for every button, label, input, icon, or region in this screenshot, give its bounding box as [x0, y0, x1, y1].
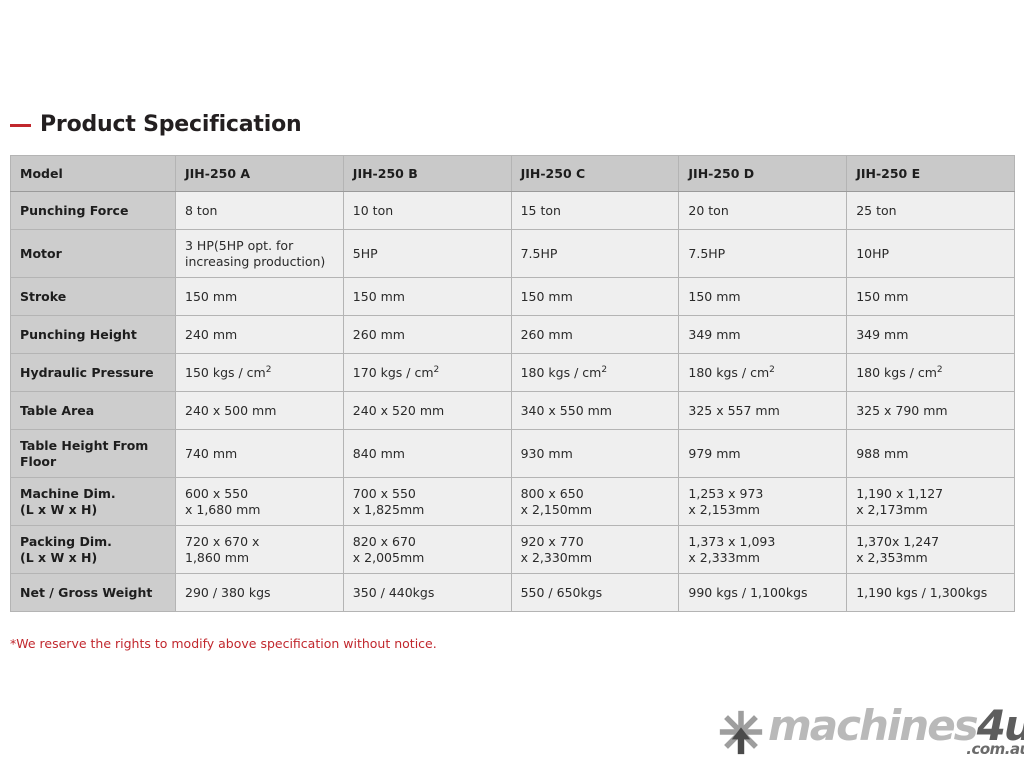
table-header-row: ModelJIH-250 AJIH-250 BJIH-250 CJIH-250 … [11, 156, 1015, 192]
table-cell-value: 1,253 x 973 x 2,153mm [679, 478, 847, 526]
table-cell-value: 150 kgs / cm2 [176, 354, 344, 392]
table-header-cell-model-jih-250-c: JIH-250 C [511, 156, 679, 192]
table-cell-value: 930 mm [511, 430, 679, 478]
table-cell-value: 340 x 550 mm [511, 392, 679, 430]
table-header-cell-model-jih-250-b: JIH-250 B [343, 156, 511, 192]
table-row: Punching Height240 mm260 mm260 mm349 mm3… [11, 316, 1015, 354]
table-cell-value: 240 x 500 mm [176, 392, 344, 430]
table-cell-value: 700 x 550 x 1,825mm [343, 478, 511, 526]
table-cell-value: 800 x 650 x 2,150mm [511, 478, 679, 526]
table-row: Net / Gross Weight290 / 380 kgs350 / 440… [11, 574, 1015, 612]
table-cell-value: 7.5HP [511, 230, 679, 278]
table-cell-value: 720 x 670 x 1,860 mm [176, 526, 344, 574]
table-row: Hydraulic Pressure150 kgs / cm2170 kgs /… [11, 354, 1015, 392]
table-cell-value: 325 x 790 mm [847, 392, 1015, 430]
table-cell-value: 150 mm [679, 278, 847, 316]
table-row-label: Table Height From Floor [11, 430, 176, 478]
table-row-label: Punching Height [11, 316, 176, 354]
table-row-label: Hydraulic Pressure [11, 354, 176, 392]
table-row: Machine Dim. (L x W x H)600 x 550 x 1,68… [11, 478, 1015, 526]
asterisk-arrow-logo-icon [718, 709, 764, 755]
table-cell-value: 7.5HP [679, 230, 847, 278]
table-cell-value: 25 ton [847, 192, 1015, 230]
table-cell-value: 3 HP(5HP opt. for increasing production) [176, 230, 344, 278]
table-cell-value: 740 mm [176, 430, 344, 478]
table-row: Motor3 HP(5HP opt. for increasing produc… [11, 230, 1015, 278]
logo-domain-suffix: .com.au [966, 742, 1024, 757]
superscript-unit: 2 [434, 364, 440, 374]
table-row-label: Machine Dim. (L x W x H) [11, 478, 176, 526]
product-specification-table: ModelJIH-250 AJIH-250 BJIH-250 CJIH-250 … [10, 155, 1015, 612]
logo-wordmark: machines4u .com.au [768, 706, 1024, 757]
superscript-unit: 2 [937, 364, 943, 374]
table-cell-value: 1,190 kgs / 1,300kgs [847, 574, 1015, 612]
table-cell-value: 150 mm [511, 278, 679, 316]
table-cell-value: 150 mm [176, 278, 344, 316]
table-cell-value: 180 kgs / cm2 [847, 354, 1015, 392]
table-cell-value: 260 mm [343, 316, 511, 354]
table-cell-value: 820 x 670 x 2,005mm [343, 526, 511, 574]
disclaimer-note: *We reserve the rights to modify above s… [10, 636, 437, 651]
table-cell-value: 5HP [343, 230, 511, 278]
table-cell-value: 240 mm [176, 316, 344, 354]
table-cell-value: 260 mm [511, 316, 679, 354]
spec-table-container: ModelJIH-250 AJIH-250 BJIH-250 CJIH-250 … [10, 155, 1014, 612]
table-row-label: Motor [11, 230, 176, 278]
page-title: Product Specification [40, 114, 301, 136]
table-cell-value: 180 kgs / cm2 [679, 354, 847, 392]
table-cell-value: 240 x 520 mm [343, 392, 511, 430]
page-title-block: Product Specification [10, 114, 301, 136]
superscript-unit: 2 [601, 364, 607, 374]
table-cell-value: 150 mm [343, 278, 511, 316]
table-body: Punching Force8 ton10 ton15 ton20 ton25 … [11, 192, 1015, 612]
table-cell-value: 349 mm [847, 316, 1015, 354]
table-cell-value: 180 kgs / cm2 [511, 354, 679, 392]
table-row-label: Net / Gross Weight [11, 574, 176, 612]
table-row-label: Packing Dim. (L x W x H) [11, 526, 176, 574]
table-cell-value: 600 x 550 x 1,680 mm [176, 478, 344, 526]
table-cell-value: 8 ton [176, 192, 344, 230]
table-cell-value: 840 mm [343, 430, 511, 478]
table-cell-value: 979 mm [679, 430, 847, 478]
table-cell-value: 550 / 650kgs [511, 574, 679, 612]
superscript-unit: 2 [769, 364, 775, 374]
table-cell-value: 10 ton [343, 192, 511, 230]
table-cell-value: 150 mm [847, 278, 1015, 316]
table-cell-value: 988 mm [847, 430, 1015, 478]
table-header-cell-model-jih-250-e: JIH-250 E [847, 156, 1015, 192]
table-header-cell-model-jih-250-a: JIH-250 A [176, 156, 344, 192]
table-cell-value: 990 kgs / 1,100kgs [679, 574, 847, 612]
table-cell-value: 1,373 x 1,093 x 2,333mm [679, 526, 847, 574]
table-header: ModelJIH-250 AJIH-250 BJIH-250 CJIH-250 … [11, 156, 1015, 192]
table-cell-value: 10HP [847, 230, 1015, 278]
superscript-unit: 2 [266, 364, 272, 374]
accent-dash-icon [10, 124, 31, 127]
table-cell-value: 920 x 770 x 2,330mm [511, 526, 679, 574]
table-row: Punching Force8 ton10 ton15 ton20 ton25 … [11, 192, 1015, 230]
table-row: Table Area240 x 500 mm240 x 520 mm340 x … [11, 392, 1015, 430]
table-cell-value: 350 / 440kgs [343, 574, 511, 612]
table-cell-value: 20 ton [679, 192, 847, 230]
machines4u-watermark-logo: machines4u .com.au [718, 697, 1024, 757]
table-row-label: Table Area [11, 392, 176, 430]
table-header-cell-model-jih-250-d: JIH-250 D [679, 156, 847, 192]
table-cell-value: 349 mm [679, 316, 847, 354]
table-row: Stroke150 mm150 mm150 mm150 mm150 mm [11, 278, 1015, 316]
logo-brand: machines [768, 701, 977, 750]
table-cell-value: 1,370x 1,247 x 2,353mm [847, 526, 1015, 574]
table-row-label: Punching Force [11, 192, 176, 230]
table-header-cell-model: Model [11, 156, 176, 192]
table-row: Table Height From Floor740 mm840 mm930 m… [11, 430, 1015, 478]
table-cell-value: 170 kgs / cm2 [343, 354, 511, 392]
table-cell-value: 325 x 557 mm [679, 392, 847, 430]
table-cell-value: 290 / 380 kgs [176, 574, 344, 612]
table-row-label: Stroke [11, 278, 176, 316]
table-cell-value: 1,190 x 1,127 x 2,173mm [847, 478, 1015, 526]
table-cell-value: 15 ton [511, 192, 679, 230]
table-row: Packing Dim. (L x W x H)720 x 670 x 1,86… [11, 526, 1015, 574]
